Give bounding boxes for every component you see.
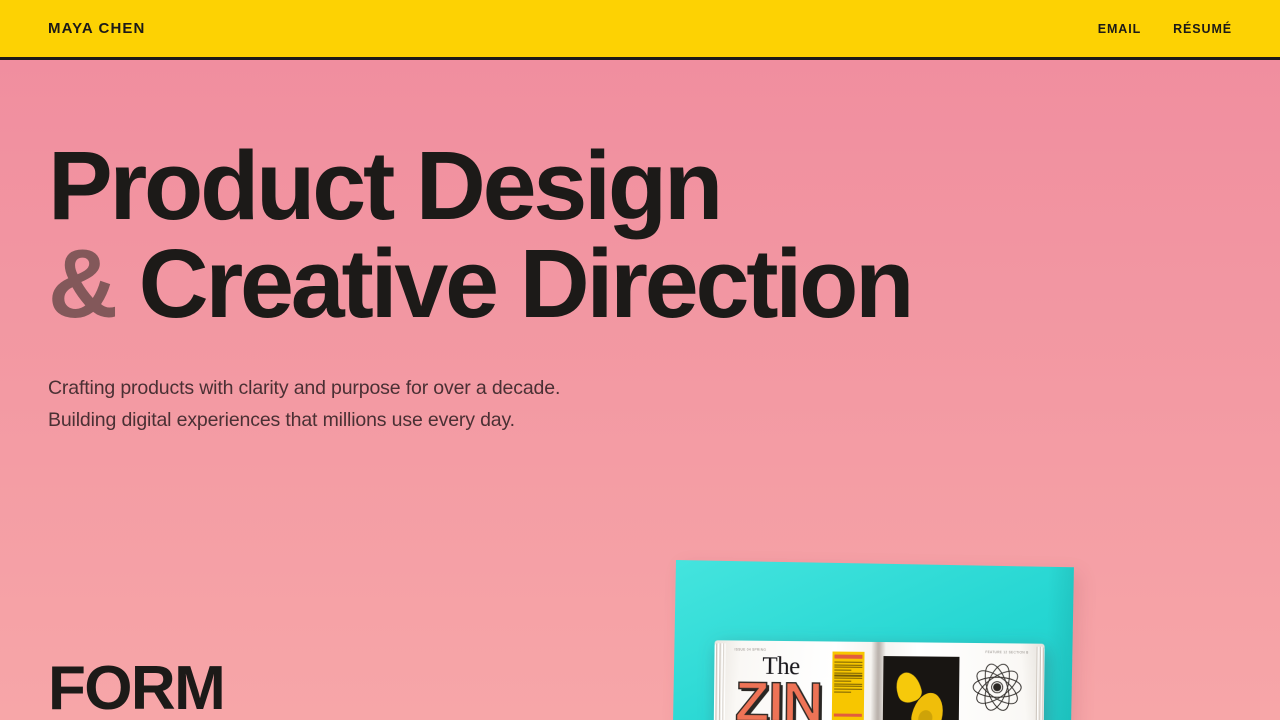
- atom-diagram-icon: [969, 659, 1026, 716]
- nav-link-resume[interactable]: RÉSUMÉ: [1173, 22, 1232, 36]
- subtitle-line-2: Building digital experiences that millio…: [48, 405, 1232, 437]
- hero-subtitle: Crafting products with clarity and purpo…: [48, 373, 1232, 437]
- right-page-folio: FEATURE 12 SECTION B: [985, 650, 1028, 656]
- sidebar-subheading-bar: [834, 714, 862, 717]
- headline-line-2-text: Creative Direction: [139, 229, 912, 338]
- magazine-title: ZIN: [735, 673, 823, 720]
- open-magazine: ISSUE 04 SPRING The ZIN FEATURE 12: [713, 640, 1044, 720]
- ampersand-glyph: &: [48, 229, 115, 338]
- page-edge-stack-right: [1034, 647, 1044, 720]
- page-title: Product Design & Creative Direction: [48, 138, 1232, 332]
- hero-photo: ISSUE 04 SPRING The ZIN FEATURE 12: [676, 560, 1096, 720]
- headline-line-2: & Creative Direction: [48, 236, 1232, 332]
- next-section-peek: FORM: [48, 658, 224, 720]
- hero-section: Product Design & Creative Direction Craf…: [0, 60, 1280, 437]
- landing-page: MAYA CHEN EMAIL RÉSUMÉ Product Design & …: [0, 0, 1280, 720]
- primary-nav: EMAIL RÉSUMÉ: [1098, 22, 1232, 36]
- magazine-left-page: ISSUE 04 SPRING The ZIN: [713, 640, 877, 720]
- brand-logo[interactable]: MAYA CHEN: [48, 20, 145, 37]
- magazine-gutter: [870, 642, 885, 720]
- sidebar-heading-bar: [834, 655, 862, 659]
- sidebar-text-lines: [834, 662, 862, 695]
- nav-link-email[interactable]: EMAIL: [1098, 22, 1141, 36]
- magazine-right-page: FEATURE 12 SECTION B: [876, 642, 1044, 720]
- page-edge-stack-left: [713, 643, 725, 720]
- next-section-title: FORM: [48, 658, 224, 720]
- black-art-panel: [882, 656, 959, 720]
- site-header: MAYA CHEN EMAIL RÉSUMÉ: [0, 0, 1280, 60]
- left-page-folio: ISSUE 04 SPRING: [735, 647, 767, 653]
- subtitle-line-1: Crafting products with clarity and purpo…: [48, 373, 1232, 405]
- yellow-sidebar-column: [831, 652, 864, 720]
- headline-line-1: Product Design: [48, 138, 1232, 234]
